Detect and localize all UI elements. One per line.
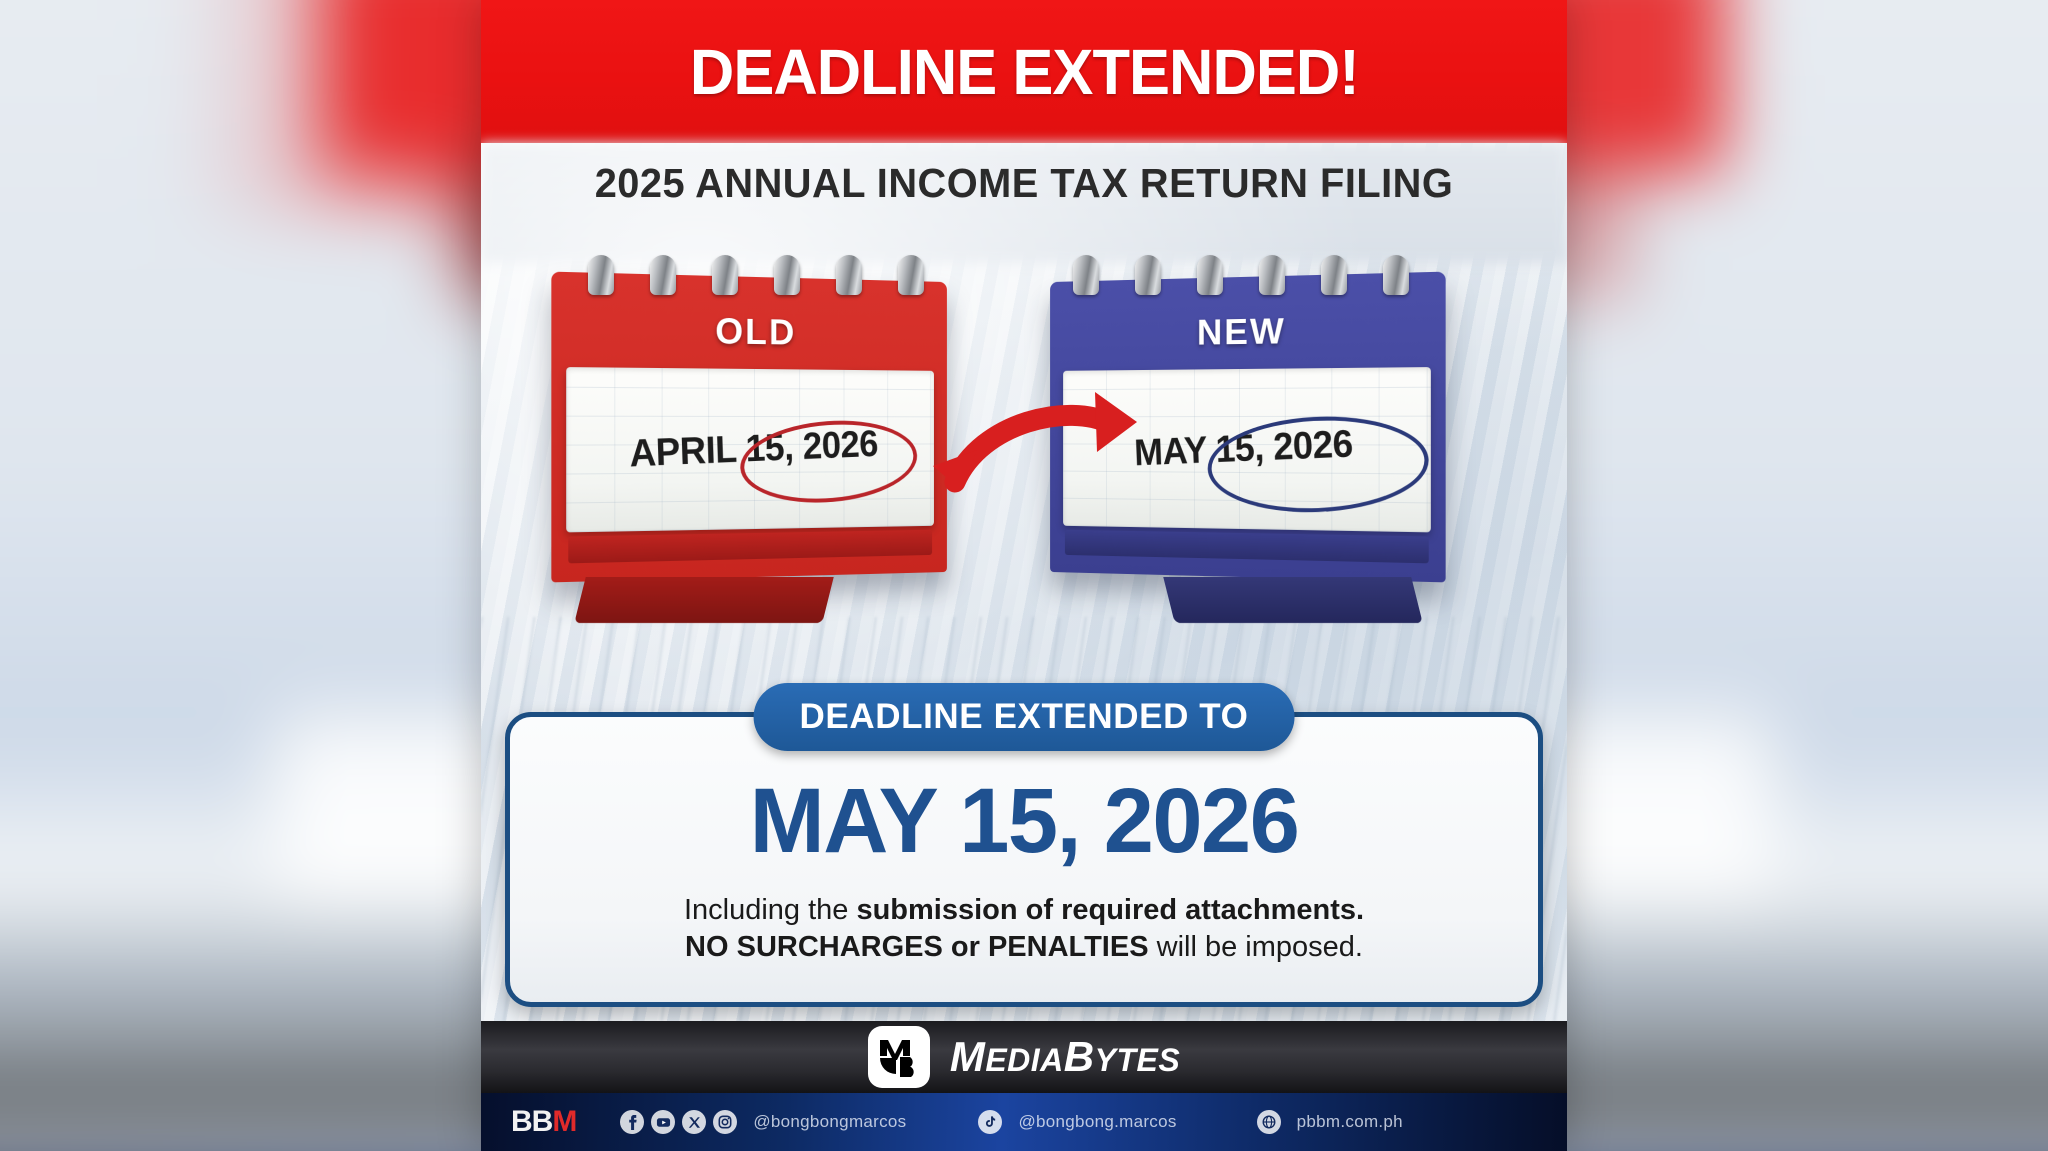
ring-icon [774, 255, 800, 295]
mediabytes-wordmark: MEDIABYTES [950, 1033, 1180, 1081]
card-note-line-1: Including the submission of required att… [510, 892, 1538, 929]
ring-icon [836, 255, 862, 295]
poster: DEADLINE EXTENDED! 2025 ANNUAL INCOME TA… [481, 0, 1567, 1151]
ring-icon [898, 255, 924, 295]
calendar-old-badge: OLD [551, 307, 947, 356]
x-icon[interactable] [682, 1110, 706, 1134]
calendar-new-stand [1163, 577, 1422, 623]
bbm-logo-bb: BB [511, 1105, 552, 1139]
website-url[interactable]: pbbm.com.ph [1297, 1112, 1403, 1132]
ring-icon [1259, 255, 1285, 295]
note2-plain: will be imposed. [1149, 931, 1363, 963]
poster-header-band: DEADLINE EXTENDED! [481, 0, 1567, 143]
calendar-old-stand [574, 577, 833, 623]
ring-icon [1383, 255, 1409, 295]
calendar-rings-icon [588, 255, 924, 295]
calendar-old-body: OLD APRIL 15, 2026 [551, 272, 947, 583]
calendar-rings-icon [1073, 255, 1409, 295]
ring-icon [1197, 255, 1223, 295]
blue-oval-highlight [1205, 411, 1430, 516]
social-group-3: pbbm.com.ph [1257, 1110, 1403, 1134]
ring-icon [650, 255, 676, 295]
ring-icon [1135, 255, 1161, 295]
info-card: MAY 15, 2026 Including the submission of… [505, 712, 1543, 1007]
deadline-extended-pill: DEADLINE EXTENDED TO [754, 683, 1295, 751]
ring-icon [1073, 255, 1099, 295]
instagram-icon[interactable] [713, 1110, 737, 1134]
note1-plain: Including the [684, 894, 857, 926]
ring-icon [712, 255, 738, 295]
globe-icon[interactable] [1257, 1110, 1281, 1134]
mb-part2: YTES [1095, 1042, 1181, 1078]
bbm-logo: BBM [511, 1105, 576, 1139]
screenshot-canvas: DEADLINE EXTENDED! 2025 ANNUAL INCOME TA… [0, 0, 2048, 1151]
mb-mid: B [1064, 1033, 1095, 1080]
card-note: Including the submission of required att… [510, 892, 1538, 966]
calendar-old-page: APRIL 15, 2026 [566, 367, 934, 532]
note2-bold: NO SURCHARGES or PENALTIES [685, 931, 1149, 963]
footer-bar: BBM @bongbongmarcos [481, 1093, 1567, 1151]
social-handle-2[interactable]: @bongbong.marcos [1018, 1112, 1176, 1132]
calendar-old: OLD APRIL 15, 2026 [556, 255, 956, 615]
calendar-new-foot [1065, 530, 1429, 564]
card-note-line-2: NO SURCHARGES or PENALTIES will be impos… [510, 929, 1538, 966]
new-deadline-headline: MAY 15, 2026 [520, 769, 1527, 874]
ring-icon [588, 255, 614, 295]
facebook-icon[interactable] [620, 1110, 644, 1134]
calendar-old-foot [568, 530, 932, 564]
social-group-1: @bongbongmarcos [620, 1110, 906, 1134]
ring-icon [1321, 255, 1347, 295]
bbm-logo-m: M [552, 1105, 576, 1139]
tiktok-icon[interactable] [978, 1110, 1002, 1134]
mediabytes-watermark-bar: MEDIABYTES [481, 1021, 1567, 1093]
calendar-new-badge: NEW [1050, 307, 1446, 356]
mb-prefix: M [950, 1033, 986, 1080]
poster-subtitle: 2025 ANNUAL INCOME TAX RETURN FILING [497, 160, 1550, 207]
mediabytes-logo-icon [868, 1026, 930, 1088]
youtube-icon[interactable] [651, 1110, 675, 1134]
note1-bold: submission of required attachments. [856, 894, 1364, 926]
mb-part1: EDIA [985, 1042, 1063, 1078]
curved-arrow-icon [919, 378, 1149, 498]
social-group-2: @bongbong.marcos [978, 1110, 1176, 1134]
social-handle-1[interactable]: @bongbongmarcos [753, 1112, 906, 1132]
page-title: DEADLINE EXTENDED! [690, 35, 1359, 109]
